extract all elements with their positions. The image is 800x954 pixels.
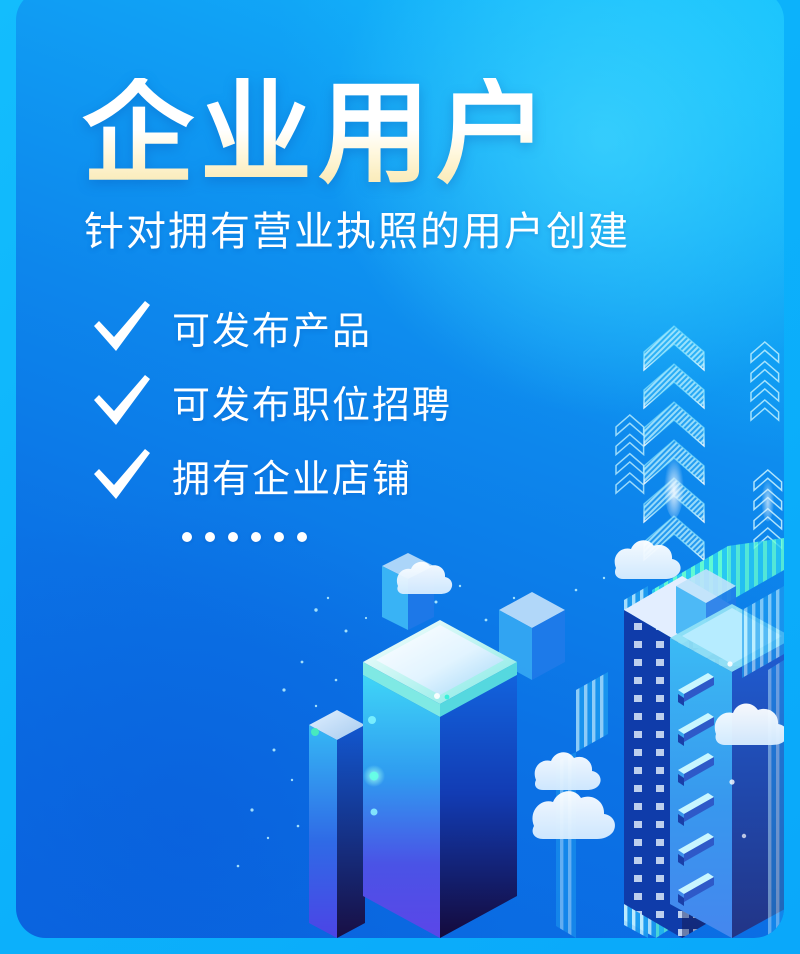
- dot: [274, 532, 284, 542]
- page-subtitle: 针对拥有营业执照的用户创建: [84, 208, 784, 256]
- check-icon: [90, 447, 152, 503]
- feature-label: 可发布产品: [172, 300, 372, 355]
- check-icon: [90, 373, 152, 429]
- card-panel: 企业用户 针对拥有营业执照的用户创建 可发布产品 可发布职位招聘: [16, 0, 784, 938]
- enterprise-user-card: 企业用户 针对拥有营业执照的用户创建 可发布产品 可发布职位招聘: [0, 0, 800, 954]
- tower-glass-center: [363, 620, 517, 938]
- page-title: 企业用户: [82, 78, 784, 190]
- tower-slim-left: [309, 710, 365, 938]
- feature-list: 可发布产品 可发布职位招聘 拥有企业店铺: [90, 290, 784, 512]
- feature-label: 拥有企业店铺: [172, 448, 412, 503]
- dot: [297, 532, 307, 542]
- dot: [205, 532, 215, 542]
- ellipsis-dots: [182, 532, 784, 542]
- feature-label: 可发布职位招聘: [172, 374, 452, 429]
- cloud-right-upper: [615, 540, 681, 579]
- list-item: 可发布职位招聘: [90, 364, 784, 438]
- dot: [251, 532, 261, 542]
- dot: [182, 532, 192, 542]
- cloud-bottom-center: [535, 752, 601, 790]
- card-content: 企业用户 针对拥有营业执照的用户创建 可发布产品 可发布职位招聘: [16, 0, 784, 542]
- list-item: 可发布产品: [90, 290, 784, 364]
- list-item: 拥有企业店铺: [90, 438, 784, 512]
- cloud-left-low: [532, 791, 614, 839]
- check-icon: [90, 299, 152, 355]
- dot: [228, 532, 238, 542]
